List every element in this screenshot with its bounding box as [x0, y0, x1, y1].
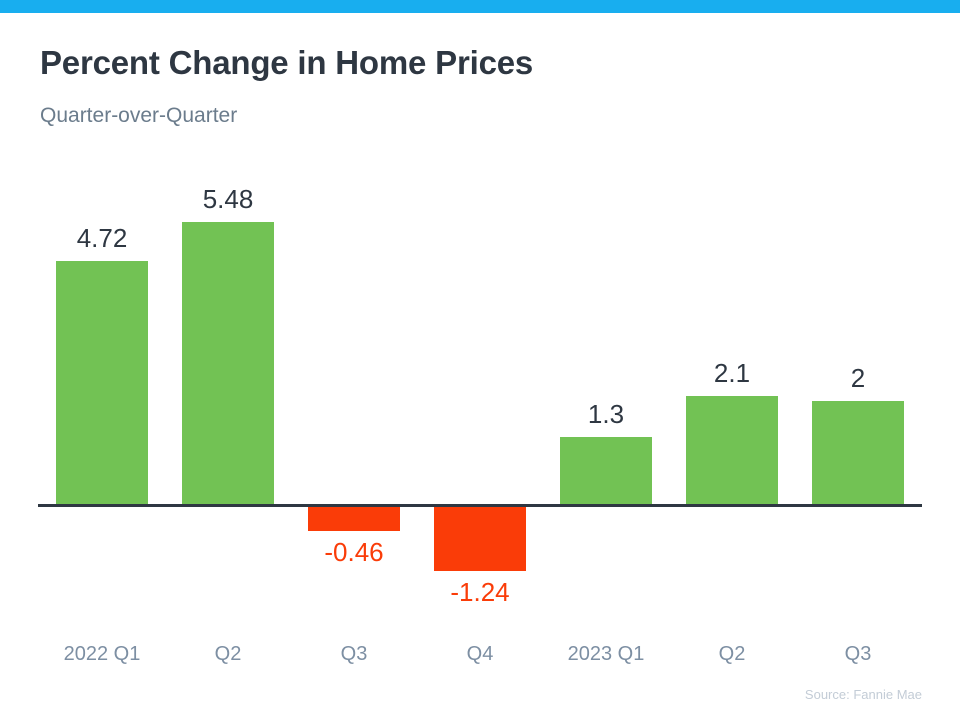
bar-2022-q1[interactable] [56, 261, 148, 504]
x-axis-label-q4: Q4 [410, 643, 550, 666]
x-axis-label-q3: Q3 [788, 643, 928, 666]
x-axis-label-2023-q1: 2023 Q1 [536, 643, 676, 666]
bar-q4[interactable] [434, 507, 526, 571]
value-label-q3: -0.46 [278, 537, 430, 568]
bar-q3[interactable] [308, 507, 400, 531]
x-axis-label-q2: Q2 [158, 643, 298, 666]
bar-chart-plot: 4.722022 Q15.48Q2-0.46Q3-1.24Q41.32023 Q… [0, 0, 960, 720]
chart-page: Percent Change in Home Prices Quarter-ov… [0, 0, 960, 720]
bar-q3[interactable] [812, 401, 904, 504]
x-axis-label-2022-q1: 2022 Q1 [32, 643, 172, 666]
bar-q2[interactable] [686, 396, 778, 504]
x-axis-label-q3: Q3 [284, 643, 424, 666]
bar-2023-q1[interactable] [560, 437, 652, 504]
value-label-2023-q1: 1.3 [530, 399, 682, 430]
source-note: Source: Fannie Mae [805, 687, 922, 702]
bar-q2[interactable] [182, 222, 274, 504]
value-label-q3: 2 [782, 363, 934, 394]
value-label-2022-q1: 4.72 [26, 223, 178, 254]
x-axis-label-q2: Q2 [662, 643, 802, 666]
value-label-q4: -1.24 [404, 577, 556, 608]
value-label-q2: 5.48 [152, 184, 304, 215]
